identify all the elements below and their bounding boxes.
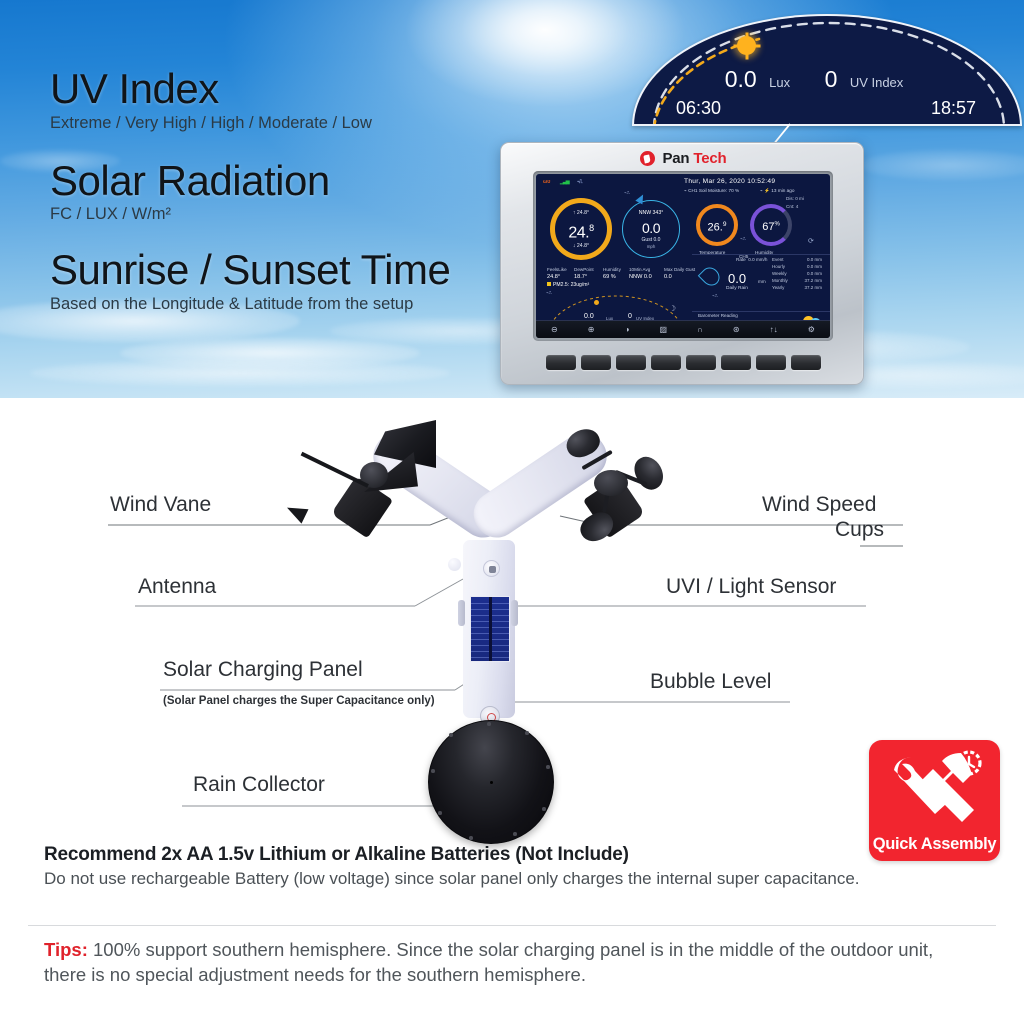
signal-icon: ⌁⎍: [624, 190, 630, 196]
uv-arc-readout: 0.0 Lux 0 UV Index: [634, 66, 1022, 93]
label-bubble-level: Bubble Level: [650, 670, 771, 694]
console-button[interactable]: [721, 355, 751, 370]
rain-breakdown-table: Event0.0 mm Hourly0.0 mm Weekly0.0 mm Mo…: [772, 257, 822, 292]
outdoor-temp-gauge: 26.9: [696, 204, 738, 246]
rain-rate: Rate 0.0 mm/h: [736, 257, 767, 263]
moon-icon: ☽: [669, 304, 676, 314]
tips-note: Tips: 100% support southern hemisphere. …: [44, 938, 974, 987]
stats-header-row: FeelsLike DewPoint Humidity 10Min Avg Ma…: [547, 267, 697, 273]
feature-title: UV Index: [50, 68, 520, 111]
lightning-readout: ⌁ ⚡ 13 min ago: [760, 188, 795, 194]
table-row: Yearly37.2 mm: [772, 285, 822, 292]
signal-icon: ⌁: [684, 188, 687, 193]
sync-icon[interactable]: ⊛: [733, 325, 740, 335]
mount-clip-right: [511, 600, 518, 626]
stats-value: 69 %: [603, 274, 629, 281]
console-button[interactable]: [791, 355, 821, 370]
pm25-swatch-icon: [547, 282, 551, 286]
pm25-readout: PM2.5: 23ug/m³: [547, 282, 589, 288]
console-button[interactable]: [616, 355, 646, 370]
battery-note-title: Recommend 2x AA 1.5v Lithium or Alkaline…: [44, 844, 864, 866]
wind-gauge: NNW 343° 0.0 Gust 0.0 mph: [622, 200, 680, 258]
stats-header: DewPoint: [574, 267, 603, 273]
temp-value: 24.8: [555, 223, 607, 243]
stats-value: NNW 0.0: [629, 274, 664, 281]
label-antenna: Antenna: [138, 575, 216, 599]
label-solar-charging-panel: Solar Charging Panel: [163, 658, 363, 682]
temp-high: ↑ 24.8°: [555, 210, 607, 217]
wind-vane-tip: [284, 500, 309, 523]
wu-icon: ωʊ: [543, 179, 550, 185]
screen-datetime: Thur, Mar 26, 2020 10:52:49: [684, 178, 775, 186]
uv-index-unit: UV Index: [850, 75, 903, 90]
solar-charging-panel: [470, 596, 510, 662]
wind-speed-value: 0.0: [623, 220, 679, 238]
uv-arc-callout: 0.0 Lux 0 UV Index 06:30 18:57: [632, 14, 1022, 126]
feature-title: Sunrise / Sunset Time: [50, 249, 520, 292]
stats-header: 10Min Avg: [629, 267, 664, 273]
signal-icon: ⌁: [760, 188, 763, 193]
daily-rain-label: Daily Rain: [726, 286, 748, 292]
plus-circle-icon[interactable]: ⊕: [588, 325, 595, 335]
console-button[interactable]: [581, 355, 611, 370]
tips-text: 100% support southern hemisphere. Since …: [44, 939, 933, 985]
battery-note: Recommend 2x AA 1.5v Lithium or Alkaline…: [44, 844, 864, 889]
feature-block-sunrise-sunset: Sunrise / Sunset Time Based on the Longi…: [50, 249, 520, 315]
table-row: Monthly37.2 mm: [772, 278, 822, 285]
sunrise-time: 06:30: [676, 98, 721, 119]
antenna-nub: [448, 558, 461, 571]
quick-assembly-label: Quick Assembly: [869, 835, 1000, 854]
soil-moisture-text: CH1 Soil Moisture: 70 %: [688, 188, 739, 193]
wind-gust: Gust 0.0: [623, 237, 679, 243]
updown-arrows-icon[interactable]: ↑↓: [770, 325, 778, 335]
indoor-temp-gauge: ↑ 24.8° 24.8 ↓ 24.8°: [550, 198, 612, 260]
brand-name-first: Pan: [662, 150, 689, 167]
outdoor-unit-diagram: Wind Vane Antenna Solar Charging Panel (…: [0, 398, 1024, 1024]
table-row: Hourly0.0 mm: [772, 264, 822, 271]
brand-logo: Pan Tech: [501, 150, 865, 167]
divider: [28, 925, 996, 926]
gear-icon[interactable]: ⚙: [808, 325, 815, 335]
sun-icon: [737, 36, 756, 55]
anemometer-hub: [594, 470, 628, 496]
stats-value: 18.7°: [574, 274, 603, 281]
sun-position-dot-icon: [594, 300, 599, 305]
brightness-icon[interactable]: ▨: [659, 325, 667, 335]
lux-unit: Lux: [769, 75, 790, 90]
signal-icon: ⌁⎍: [712, 293, 718, 299]
signal-bars-icon: ▁▃▅: [560, 179, 569, 185]
contrast-icon[interactable]: ◑: [625, 325, 630, 335]
feature-subtitle: Extreme / Very High / High / Moderate / …: [50, 114, 520, 134]
daily-rain-unit: mm: [758, 279, 766, 285]
stats-header: Humidity: [603, 267, 629, 273]
screen-bezel: ωʊ ▁▃▅ ⌁⎍ Thur, Mar 26, 2020 10:52:49 ⌁ …: [533, 171, 833, 341]
sunset-time: 18:57: [931, 98, 976, 119]
label-wind-speed: Wind Speed: [762, 493, 876, 517]
tools-icon: [883, 749, 986, 831]
rain-panel: Rate 0.0 mm/h 0.0 mm Daily Rain Event0.0…: [692, 254, 830, 312]
minus-circle-icon[interactable]: ⊖: [551, 325, 558, 335]
outdoor-humidity-gauge: 67%: [750, 204, 792, 246]
wind-unit: mph: [623, 244, 679, 250]
label-solar-panel-note: (Solar Panel charges the Super Capacitan…: [163, 695, 435, 707]
mount-clip-left: [458, 600, 465, 626]
label-rain-collector: Rain Collector: [193, 773, 325, 797]
quick-assembly-badge: Quick Assembly: [869, 740, 1000, 861]
feature-block-uv-index: UV Index Extreme / Very High / High / Mo…: [50, 68, 520, 134]
console-button[interactable]: [651, 355, 681, 370]
rain-collector: [428, 720, 554, 844]
uvi-light-sensor: [483, 560, 500, 577]
console-button[interactable]: [756, 355, 786, 370]
label-uvi-light-sensor: UVI / Light Sensor: [666, 575, 836, 599]
feature-headings: UV Index Extreme / Very High / High / Mo…: [50, 68, 520, 315]
weather-station-console: Pan Tech ωʊ ▁▃▅ ⌁⎍ Thur, Mar 26, 2020 10…: [500, 142, 864, 385]
lightning-bolt-icon: ⚡: [764, 188, 770, 193]
wind-vane-rod: [301, 452, 369, 488]
outdoor-temp-value: 26.9: [700, 221, 734, 235]
temp-low: ↓ 24.8°: [555, 243, 607, 250]
screen-toolbar: ⊖ ⊕ ◑ ▨ ∩ ⊛ ↑↓ ⚙: [536, 320, 830, 338]
label-wind-vane: Wind Vane: [110, 493, 211, 517]
uv-arc-panel: 0.0 Lux 0 UV Index 06:30 18:57: [632, 14, 1022, 126]
lightning-count: Cnt: 4: [786, 204, 798, 210]
stats-value-row: 24.8° 18.7° 69 % NNW 0.0 0.0: [547, 274, 697, 281]
console-button[interactable]: [546, 355, 576, 370]
uv-index-value: 0: [825, 66, 838, 92]
stats-table: FeelsLike DewPoint Humidity 10Min Avg Ma…: [547, 267, 697, 281]
soil-moisture-readout: ⌁ CH1 Soil Moisture: 70 %: [684, 188, 739, 194]
label-wind-speed-cups: Cups: [835, 518, 884, 542]
brand-name-second: Tech: [693, 150, 726, 167]
refresh-icon: ⟳: [808, 238, 814, 247]
console-button-row: [546, 355, 821, 370]
console-screen[interactable]: ωʊ ▁▃▅ ⌁⎍ Thur, Mar 26, 2020 10:52:49 ⌁ …: [536, 174, 830, 338]
wind-direction: NNW 343°: [623, 210, 679, 217]
battery-note-body: Do not use rechargeable Battery (low vol…: [44, 869, 864, 889]
table-row: Event0.0 mm: [772, 257, 822, 264]
feature-title: Solar Radiation: [50, 160, 520, 203]
table-row: Weekly0.0 mm: [772, 271, 822, 278]
cloud: [30, 360, 450, 386]
cloud: [860, 150, 1024, 180]
console-button[interactable]: [686, 355, 716, 370]
feature-subtitle: Based on the Longitude & Latitude from t…: [50, 295, 520, 315]
pantech-logo-icon: [640, 151, 655, 166]
pm25-label: PM2.5:: [553, 282, 569, 288]
pm25-value: 23ug/m³: [571, 282, 590, 288]
daily-rain-value: 0.0: [728, 271, 746, 287]
lightning-time: 13 min ago: [771, 188, 794, 193]
anemometer-cup: [630, 452, 669, 494]
signal-icon: ⌁⎍: [577, 179, 582, 185]
outdoor-sensor-unit: [280, 418, 740, 838]
feature-subtitle: FC / LUX / W/m²: [50, 205, 520, 225]
lux-value: 0.0: [725, 66, 757, 92]
loop-icon[interactable]: ∩: [697, 325, 703, 335]
feature-block-solar-radiation: Solar Radiation FC / LUX / W/m²: [50, 160, 520, 226]
water-drop-icon: [698, 264, 723, 289]
stats-value: 24.8°: [547, 274, 574, 281]
stats-header: FeelsLike: [547, 267, 574, 273]
barometer-label: Barometer Reading: [698, 313, 738, 319]
lightning-distance: Dis: 0 mi: [786, 196, 804, 202]
signal-icon: ⌁⎍: [740, 236, 746, 242]
tips-keyword: Tips:: [44, 939, 88, 960]
outdoor-humidity-value: 67%: [754, 221, 788, 235]
